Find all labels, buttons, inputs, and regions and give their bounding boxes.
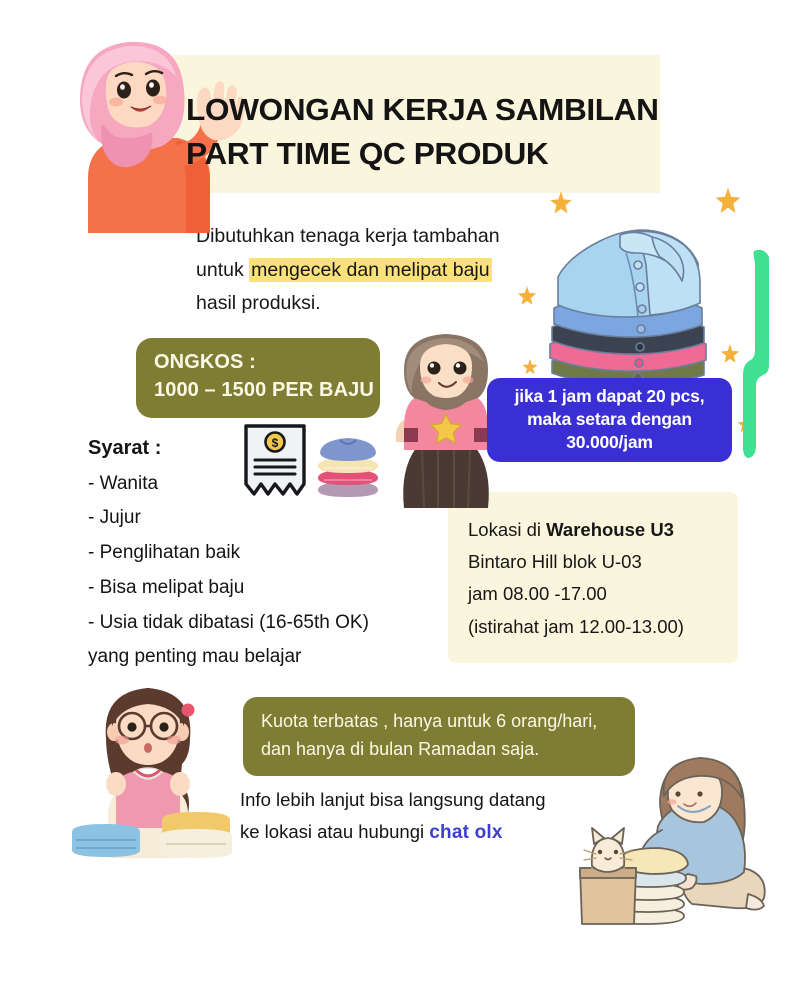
location-warehouse-name: Warehouse U3 (546, 519, 674, 540)
quota-line-1: Kuota terbatas , hanya untuk 6 orang/har… (261, 708, 617, 736)
rate-note-line-3: 30.000/jam (497, 431, 722, 454)
intro-line-2-prefix: untuk (196, 259, 249, 281)
location-line-1: Lokasi di Warehouse U3 (468, 514, 718, 546)
requirement-item: yang penting mau belajar (88, 640, 408, 675)
requirement-item: - Bisa melipat baju (88, 571, 408, 606)
requirement-item: - Usia tidak dibatasi (16-65th OK) (88, 606, 408, 641)
chat-olx-link[interactable]: chat olx (429, 822, 502, 843)
intro-line-1: Dibutuhkan tenaga kerja tambahan (196, 220, 536, 254)
ongkos-box: ONGKOS : 1000 – 1500 PER BAJU (136, 338, 380, 418)
location-line-4: (istirahat jam 12.00-13.00) (468, 611, 718, 643)
girl-holding-shirt-illustration (62, 672, 238, 862)
ongkos-label: ONGKOS : (154, 349, 362, 377)
title-line-1: LOWONGAN KERJA SAMBILAN (186, 88, 665, 132)
ongkos-value: 1000 – 1500 PER BAJU (154, 377, 362, 405)
requirement-item: - Jujur (88, 501, 408, 536)
intro-paragraph: Dibutuhkan tenaga kerja tambahan untuk m… (196, 220, 536, 321)
folded-shirt-stack-illustration (528, 205, 728, 395)
rate-note-line-2: maka setara dengan (497, 408, 722, 431)
location-line-3: jam 08.00 -17.00 (468, 578, 718, 610)
page-title: LOWONGAN KERJA SAMBILAN PART TIME QC PRO… (186, 88, 656, 176)
requirements-title: Syarat : (88, 430, 408, 467)
contact-line-2: ke lokasi atau hubungi chat olx (240, 816, 640, 850)
contact-line-2-prefix: ke lokasi atau hubungi (240, 821, 424, 842)
contact-line-1: Info lebih lanjut bisa langsung datang (240, 784, 640, 816)
contact-info: Info lebih lanjut bisa langsung datang k… (240, 784, 640, 849)
location-box: Lokasi di Warehouse U3 Bintaro Hill blok… (448, 492, 738, 663)
requirement-item: - Penglihatan baik (88, 536, 408, 571)
intro-line-2: untuk mengecek dan melipat baju (196, 254, 536, 288)
location-line-1-prefix: Lokasi di (468, 519, 546, 540)
location-line-2: Bintaro Hill blok U-03 (468, 546, 718, 578)
requirement-item: - Wanita (88, 467, 408, 502)
quota-box: Kuota terbatas , hanya untuk 6 orang/har… (243, 697, 635, 776)
quota-line-2: dan hanya di bulan Ramadan saja. (261, 736, 617, 764)
requirements-list: Syarat : - Wanita - Jujur - Penglihatan … (88, 430, 408, 675)
intro-line-3: hasil produksi. (196, 287, 536, 321)
rate-note-box: jika 1 jam dapat 20 pcs, maka setara den… (487, 378, 732, 462)
job-ad-poster: LOWONGAN KERJA SAMBILAN PART TIME QC PRO… (0, 0, 800, 1000)
intro-highlight: mengecek dan melipat baju (249, 258, 492, 282)
title-line-2: PART TIME QC PRODUK (186, 132, 665, 176)
rate-note-line-1: jika 1 jam dapat 20 pcs, (497, 385, 722, 408)
green-brush-stroke-decoration (742, 245, 776, 460)
